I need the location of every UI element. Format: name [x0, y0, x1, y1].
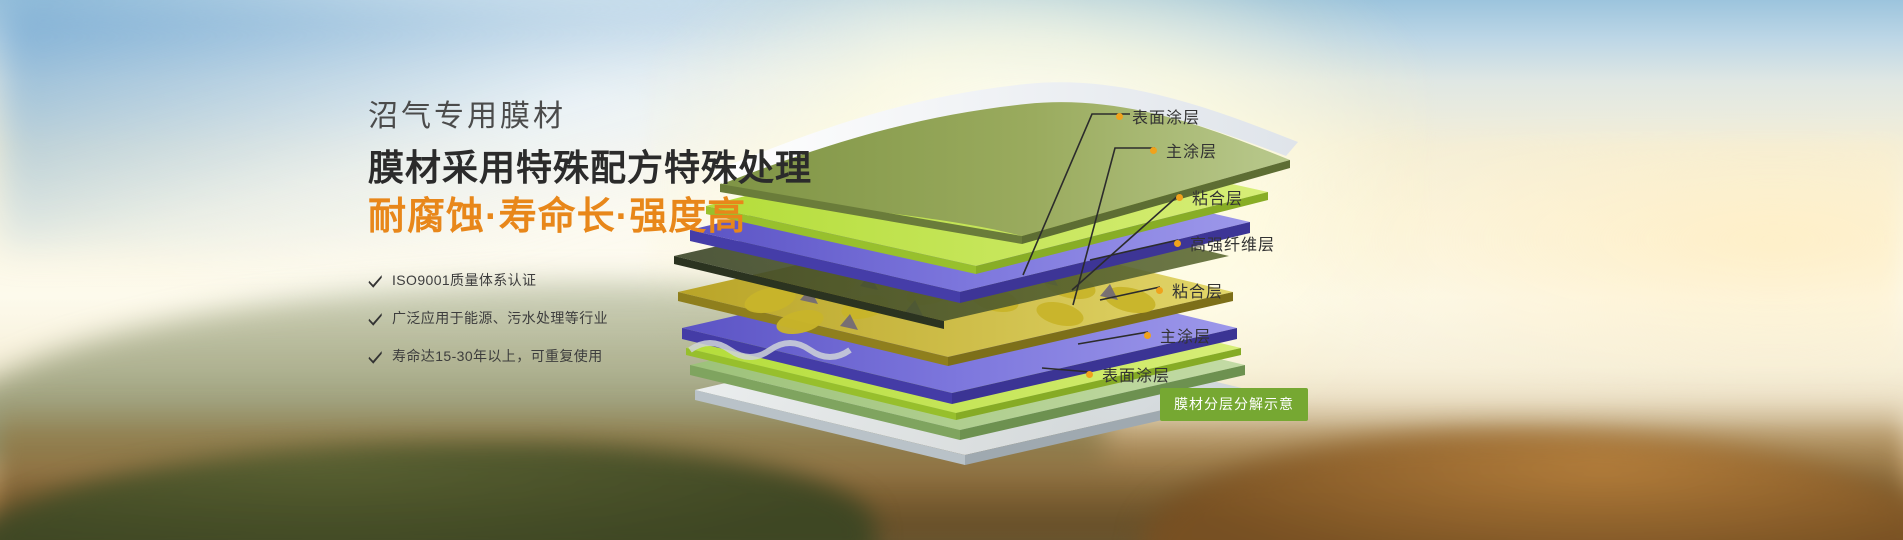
diagram-caption-badge: 膜材分层分解示意 [1160, 388, 1308, 421]
check-icon [368, 350, 383, 365]
banner-root: 沼气专用膜材 膜材采用特殊配方特殊处理 耐腐蚀·寿命长·强度高 ISO9001质… [0, 0, 1903, 540]
headline-text: 膜材采用特殊配方特殊处理 [368, 147, 888, 189]
list-item: 寿命达15-30年以上，可重复使用 [368, 346, 888, 366]
check-icon [368, 312, 383, 327]
list-item-label: ISO9001质量体系认证 [392, 270, 536, 290]
copy-block: 沼气专用膜材 膜材采用特殊配方特殊处理 耐腐蚀·寿命长·强度高 ISO9001质… [368, 100, 888, 384]
list-item-label: 寿命达15-30年以上，可重复使用 [392, 346, 603, 366]
eyebrow-text: 沼气专用膜材 [368, 100, 888, 133]
subheadline-text: 耐腐蚀·寿命长·强度高 [368, 195, 888, 240]
list-item: 广泛应用于能源、污水处理等行业 [368, 308, 888, 328]
list-item-label: 广泛应用于能源、污水处理等行业 [392, 308, 608, 328]
feature-list: ISO9001质量体系认证 广泛应用于能源、污水处理等行业 寿命达15-30年以… [368, 270, 888, 366]
check-icon [368, 274, 383, 289]
list-item: ISO9001质量体系认证 [368, 270, 888, 290]
